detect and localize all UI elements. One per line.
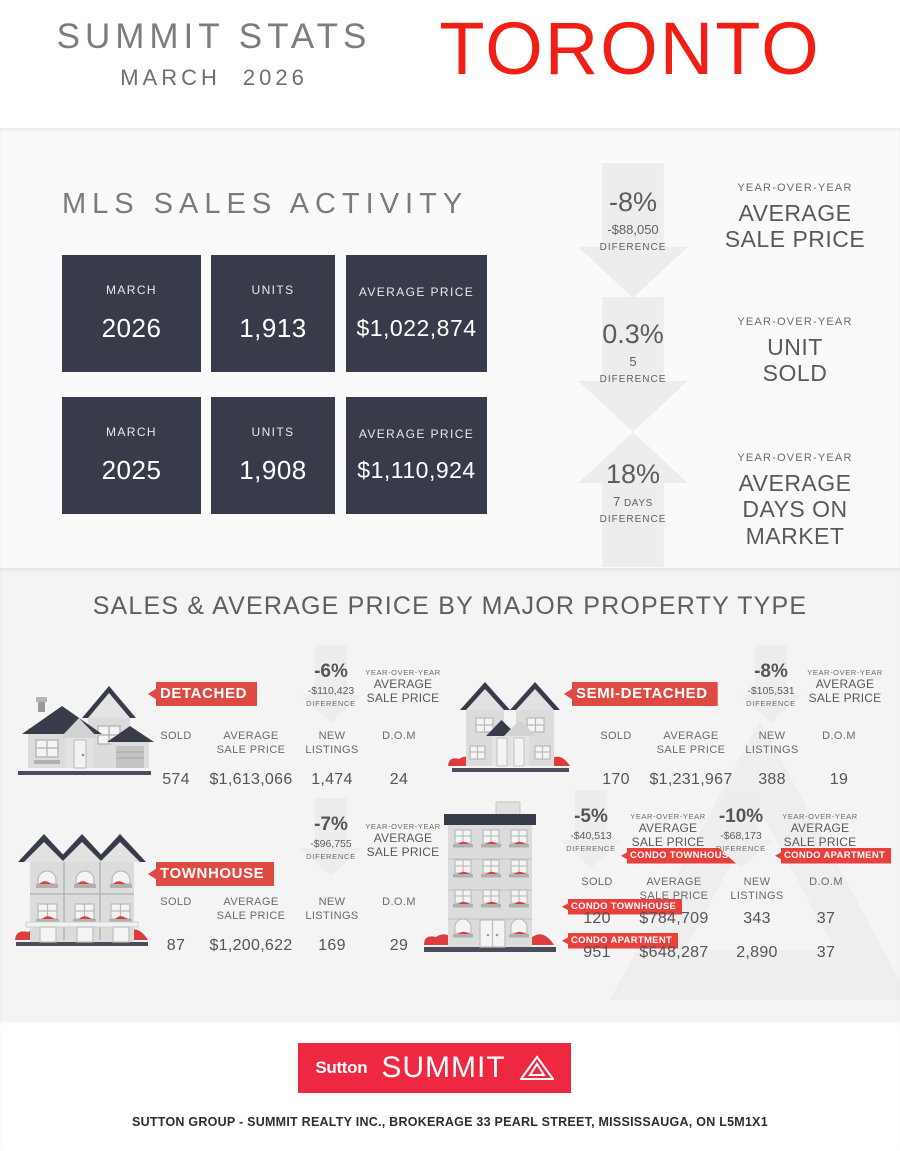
footer-address: SUTTON GROUP - SUMMIT REALTY INC., BROKE… bbox=[0, 1115, 900, 1129]
yoy-difference-value: 7 bbox=[613, 494, 620, 509]
condo-apartment-yoy-difference: -$68,173 bbox=[710, 830, 772, 842]
condo-townhouse-new-listings: 343 bbox=[720, 910, 794, 928]
mls-section-title: MLS SALES ACTIVITY bbox=[62, 188, 468, 221]
mls-value-year: 2026 bbox=[102, 313, 162, 344]
yoy-percent: -8% bbox=[578, 187, 688, 218]
sutton-summit-logo: Sutton SUMMIT bbox=[298, 1043, 571, 1093]
detached-yoy-caption: YEAR-OVER-YEAR AVERAGE SALE PRICE bbox=[362, 668, 444, 706]
yoy-kicker: YEAR-OVER-YEAR bbox=[700, 316, 890, 328]
yoy-title-line2: DAYS ON bbox=[700, 496, 890, 522]
townhouse-yoy-difference-label: DIFERENCE bbox=[300, 852, 362, 861]
col-header-sold: SOLD bbox=[586, 730, 646, 758]
semi-detached-yoy-arrow: -8% -$105,531 DIFERENCE bbox=[740, 645, 802, 723]
yoy-kicker: YEAR-OVER-YEAR bbox=[700, 182, 890, 194]
badge-townhouse: TOWNHOUSE bbox=[148, 862, 274, 886]
townhouse-dom: 29 bbox=[368, 937, 430, 955]
yoy-title-line2: SALE PRICE bbox=[802, 691, 888, 705]
col-header-dom: D.O.M bbox=[368, 896, 430, 924]
col-header-avg-price: AVERAGESALE PRICE bbox=[646, 730, 736, 758]
semi-detached-yoy-difference: -$105,531 bbox=[740, 685, 802, 697]
badge-semi-detached: SEMI-DETACHED bbox=[564, 682, 718, 706]
header-period: MARCH2026 bbox=[44, 65, 384, 91]
mls-box-period-2025: MARCH 2025 bbox=[62, 397, 201, 514]
condo-townhouse-row: 120 $784,709 343 37 bbox=[566, 910, 866, 928]
table-header-row: SOLD AVERAGESALE PRICE NEWLISTINGS D.O.M bbox=[586, 730, 876, 758]
yoy-title-line2: SALE PRICE bbox=[700, 226, 890, 252]
semi-detached-yoy-difference-label: DIFERENCE bbox=[740, 699, 802, 708]
townhouse-stats-table: SOLD AVERAGESALE PRICE NEWLISTINGS D.O.M… bbox=[146, 896, 436, 955]
semi-detached-new-listings: 388 bbox=[736, 771, 808, 789]
mls-value-units: 1,908 bbox=[239, 455, 307, 486]
condo-townhouse-dom: 37 bbox=[794, 910, 858, 928]
condo-townhouse-yoy-arrow: -5% -$40,513 DIFERENCE bbox=[560, 790, 622, 868]
table-row: 574 $1,613,066 1,474 24 bbox=[146, 771, 436, 789]
yoy-title-line2: SALE PRICE bbox=[622, 835, 714, 849]
col-header-dom: D.O.M bbox=[794, 876, 858, 904]
condo-apartment-dom: 37 bbox=[794, 944, 858, 962]
yoy-difference-label: DIFERENCE bbox=[578, 242, 688, 253]
yoy-title-line1: AVERAGE bbox=[362, 677, 444, 691]
yoy-kicker: YEAR-OVER-YEAR bbox=[700, 452, 890, 464]
page-title: SUMMIT STATS bbox=[44, 18, 384, 57]
mls-value-avg-price: $1,022,874 bbox=[356, 315, 476, 342]
mls-box-period-2026: MARCH 2026 bbox=[62, 255, 201, 372]
badge-detached: DETACHED bbox=[148, 682, 257, 706]
townhouse-yoy-percent: -7% bbox=[300, 814, 362, 836]
mls-label-avg-price: AVERAGE PRICE bbox=[359, 427, 474, 441]
yoy-arrow-unit-sold: 0.3% 5 DIFERENCE bbox=[578, 297, 688, 432]
yoy-kicker: YEAR-OVER-YEAR bbox=[774, 812, 866, 821]
yoy-title-line1: AVERAGE bbox=[802, 677, 888, 691]
detached-sold: 574 bbox=[146, 771, 206, 789]
townhouse-illustration bbox=[12, 822, 152, 950]
yoy-caption-days-on-market: YEAR-OVER-YEAR AVERAGE DAYS ON MARKET bbox=[700, 452, 890, 549]
yoy-title-line1: UNIT bbox=[700, 334, 890, 360]
col-header-sold: SOLD bbox=[146, 730, 206, 758]
yoy-title-line1: AVERAGE bbox=[774, 821, 866, 835]
detached-house-illustration bbox=[12, 672, 157, 780]
table-row: 951 $648,287 2,890 37 bbox=[566, 944, 866, 962]
yoy-difference: 5 bbox=[578, 354, 688, 369]
condo-townhouse-yoy-caption: YEAR-OVER-YEAR AVERAGE SALE PRICE bbox=[622, 812, 714, 850]
yoy-kicker: YEAR-OVER-YEAR bbox=[802, 668, 888, 677]
condo-apartment-new-listings: 2,890 bbox=[720, 944, 794, 962]
yoy-caption-average-sale-price: YEAR-OVER-YEAR AVERAGE SALE PRICE bbox=[700, 182, 890, 253]
yoy-title-line1: AVERAGE bbox=[700, 200, 890, 226]
townhouse-sold: 87 bbox=[146, 937, 206, 955]
col-header-avg-price: AVERAGESALE PRICE bbox=[206, 730, 296, 758]
detached-yoy-difference-label: DIFERENCE bbox=[300, 699, 362, 708]
col-header-dom: D.O.M bbox=[808, 730, 870, 758]
detached-yoy-difference: -$110,423 bbox=[300, 685, 362, 697]
table-row: 120 $784,709 343 37 bbox=[566, 910, 866, 928]
header-year: 2026 bbox=[243, 65, 308, 91]
yoy-caption-unit-sold: YEAR-OVER-YEAR UNIT SOLD bbox=[700, 316, 890, 387]
condo-apartment-sold: 951 bbox=[566, 944, 628, 962]
header-left: SUMMIT STATS MARCH2026 bbox=[44, 18, 384, 91]
townhouse-yoy-difference: -$96,755 bbox=[300, 838, 362, 850]
table-row: 87 $1,200,622 169 29 bbox=[146, 937, 436, 955]
yoy-difference-label: DIFERENCE bbox=[578, 374, 688, 385]
city-title: TORONTO bbox=[395, 12, 865, 86]
condo-apartment-yoy-arrow: -10% -$68,173 DIFERENCE bbox=[710, 790, 772, 868]
logo-sutton-text: Sutton bbox=[315, 1058, 367, 1078]
condo-townhouse-sold: 120 bbox=[566, 910, 628, 928]
infographic-page: SUMMIT STATS MARCH2026 TORONTO MLS SALES… bbox=[0, 0, 900, 1151]
col-header-dom: D.O.M bbox=[368, 730, 430, 758]
condo-apartment-yoy-caption: YEAR-OVER-YEAR AVERAGE SALE PRICE bbox=[774, 812, 866, 850]
mls-label-month: MARCH bbox=[106, 425, 157, 439]
yoy-percent: 0.3% bbox=[578, 319, 688, 350]
col-header-new-listings: NEWLISTINGS bbox=[296, 730, 368, 758]
property-section-title: SALES & AVERAGE PRICE BY MAJOR PROPERTY … bbox=[0, 592, 900, 621]
detached-stats-table: SOLD AVERAGESALE PRICE NEWLISTINGS D.O.M… bbox=[146, 730, 436, 789]
detached-avg-price: $1,613,066 bbox=[206, 771, 296, 789]
condo-building-illustration bbox=[424, 792, 556, 957]
detached-new-listings: 1,474 bbox=[296, 771, 368, 789]
condo-townhouse-yoy-difference-label: DIFERENCE bbox=[560, 844, 622, 853]
yoy-title-line2: SALE PRICE bbox=[774, 835, 866, 849]
col-header-new-listings: NEWLISTINGS bbox=[296, 896, 368, 924]
condo-apartment-yoy-percent: -10% bbox=[710, 806, 772, 828]
yoy-title-line3: MARKET bbox=[700, 523, 890, 549]
detached-yoy-percent: -6% bbox=[300, 661, 362, 683]
mls-box-units-2025: UNITS 1,908 bbox=[211, 397, 335, 514]
condo-apartment-yoy-difference-label: DIFERENCE bbox=[710, 844, 772, 853]
badge-condo-apartment-top: CONDO APARTMENT bbox=[775, 848, 891, 864]
townhouse-yoy-arrow: -7% -$96,755 DIFERENCE bbox=[300, 798, 362, 876]
yoy-title-line1: AVERAGE bbox=[700, 470, 890, 496]
yoy-difference-unit: DAYS bbox=[624, 498, 653, 509]
yoy-difference: -$88,050 bbox=[578, 222, 688, 237]
mls-label-avg-price: AVERAGE PRICE bbox=[359, 285, 474, 299]
col-header-avg-price: AVERAGESALE PRICE bbox=[206, 896, 296, 924]
detached-yoy-arrow: -6% -$110,423 DIFERENCE bbox=[300, 645, 362, 723]
yoy-difference-label: DIFERENCE bbox=[578, 514, 688, 525]
logo-summit-text: SUMMIT bbox=[381, 1051, 505, 1085]
condo-apartment-row: 951 $648,287 2,890 37 bbox=[566, 944, 866, 962]
semi-detached-yoy-percent: -8% bbox=[740, 661, 802, 683]
mountain-icon bbox=[520, 1055, 554, 1081]
mls-value-avg-price: $1,110,924 bbox=[357, 457, 475, 484]
col-header-new-listings: NEWLISTINGS bbox=[720, 876, 794, 904]
col-header-new-listings: NEWLISTINGS bbox=[736, 730, 808, 758]
header-month: MARCH bbox=[120, 65, 221, 91]
col-header-sold: SOLD bbox=[146, 896, 206, 924]
semi-detached-avg-price: $1,231,967 bbox=[646, 771, 736, 789]
yoy-title-line1: AVERAGE bbox=[622, 821, 714, 835]
mls-label-units: UNITS bbox=[252, 283, 295, 297]
yoy-arrow-average-sale-price: -8% -$88,050 DIFERENCE bbox=[578, 163, 688, 298]
yoy-title-line2: SOLD bbox=[700, 360, 890, 386]
mls-value-units: 1,913 bbox=[239, 313, 307, 344]
yoy-arrow-days-on-market: 18% 7 DAYS DIFERENCE bbox=[578, 432, 688, 567]
table-header-row: SOLD AVERAGESALE PRICE NEWLISTINGS D.O.M bbox=[146, 896, 436, 924]
yoy-kicker: YEAR-OVER-YEAR bbox=[622, 812, 714, 821]
townhouse-new-listings: 169 bbox=[296, 937, 368, 955]
mls-box-price-2025: AVERAGE PRICE $1,110,924 bbox=[346, 397, 487, 514]
semi-detached-dom: 19 bbox=[808, 771, 870, 789]
semi-detached-house-illustration bbox=[448, 676, 573, 776]
yoy-title-line2: SALE PRICE bbox=[362, 691, 444, 705]
condo-townhouse-avg-price: $784,709 bbox=[628, 910, 720, 928]
table-row: 170 $1,231,967 388 19 bbox=[586, 771, 876, 789]
mls-label-units: UNITS bbox=[252, 425, 295, 439]
mls-label-month: MARCH bbox=[106, 283, 157, 297]
yoy-difference: 7 DAYS bbox=[578, 494, 688, 509]
condo-townhouse-yoy-percent: -5% bbox=[560, 806, 622, 828]
yoy-percent: 18% bbox=[578, 459, 688, 490]
mls-box-units-2026: UNITS 1,913 bbox=[211, 255, 335, 372]
condo-apartment-avg-price: $648,287 bbox=[628, 944, 720, 962]
mls-value-year: 2025 bbox=[102, 455, 162, 486]
mls-box-price-2026: AVERAGE PRICE $1,022,874 bbox=[346, 255, 487, 372]
yoy-kicker: YEAR-OVER-YEAR bbox=[362, 668, 444, 677]
semi-detached-yoy-caption: YEAR-OVER-YEAR AVERAGE SALE PRICE bbox=[802, 668, 888, 706]
table-header-row: SOLD AVERAGESALE PRICE NEWLISTINGS D.O.M bbox=[146, 730, 436, 758]
semi-detached-sold: 170 bbox=[586, 771, 646, 789]
detached-dom: 24 bbox=[368, 771, 430, 789]
condo-townhouse-yoy-difference: -$40,513 bbox=[560, 830, 622, 842]
townhouse-avg-price: $1,200,622 bbox=[206, 937, 296, 955]
semi-detached-stats-table: SOLD AVERAGESALE PRICE NEWLISTINGS D.O.M… bbox=[586, 730, 876, 789]
